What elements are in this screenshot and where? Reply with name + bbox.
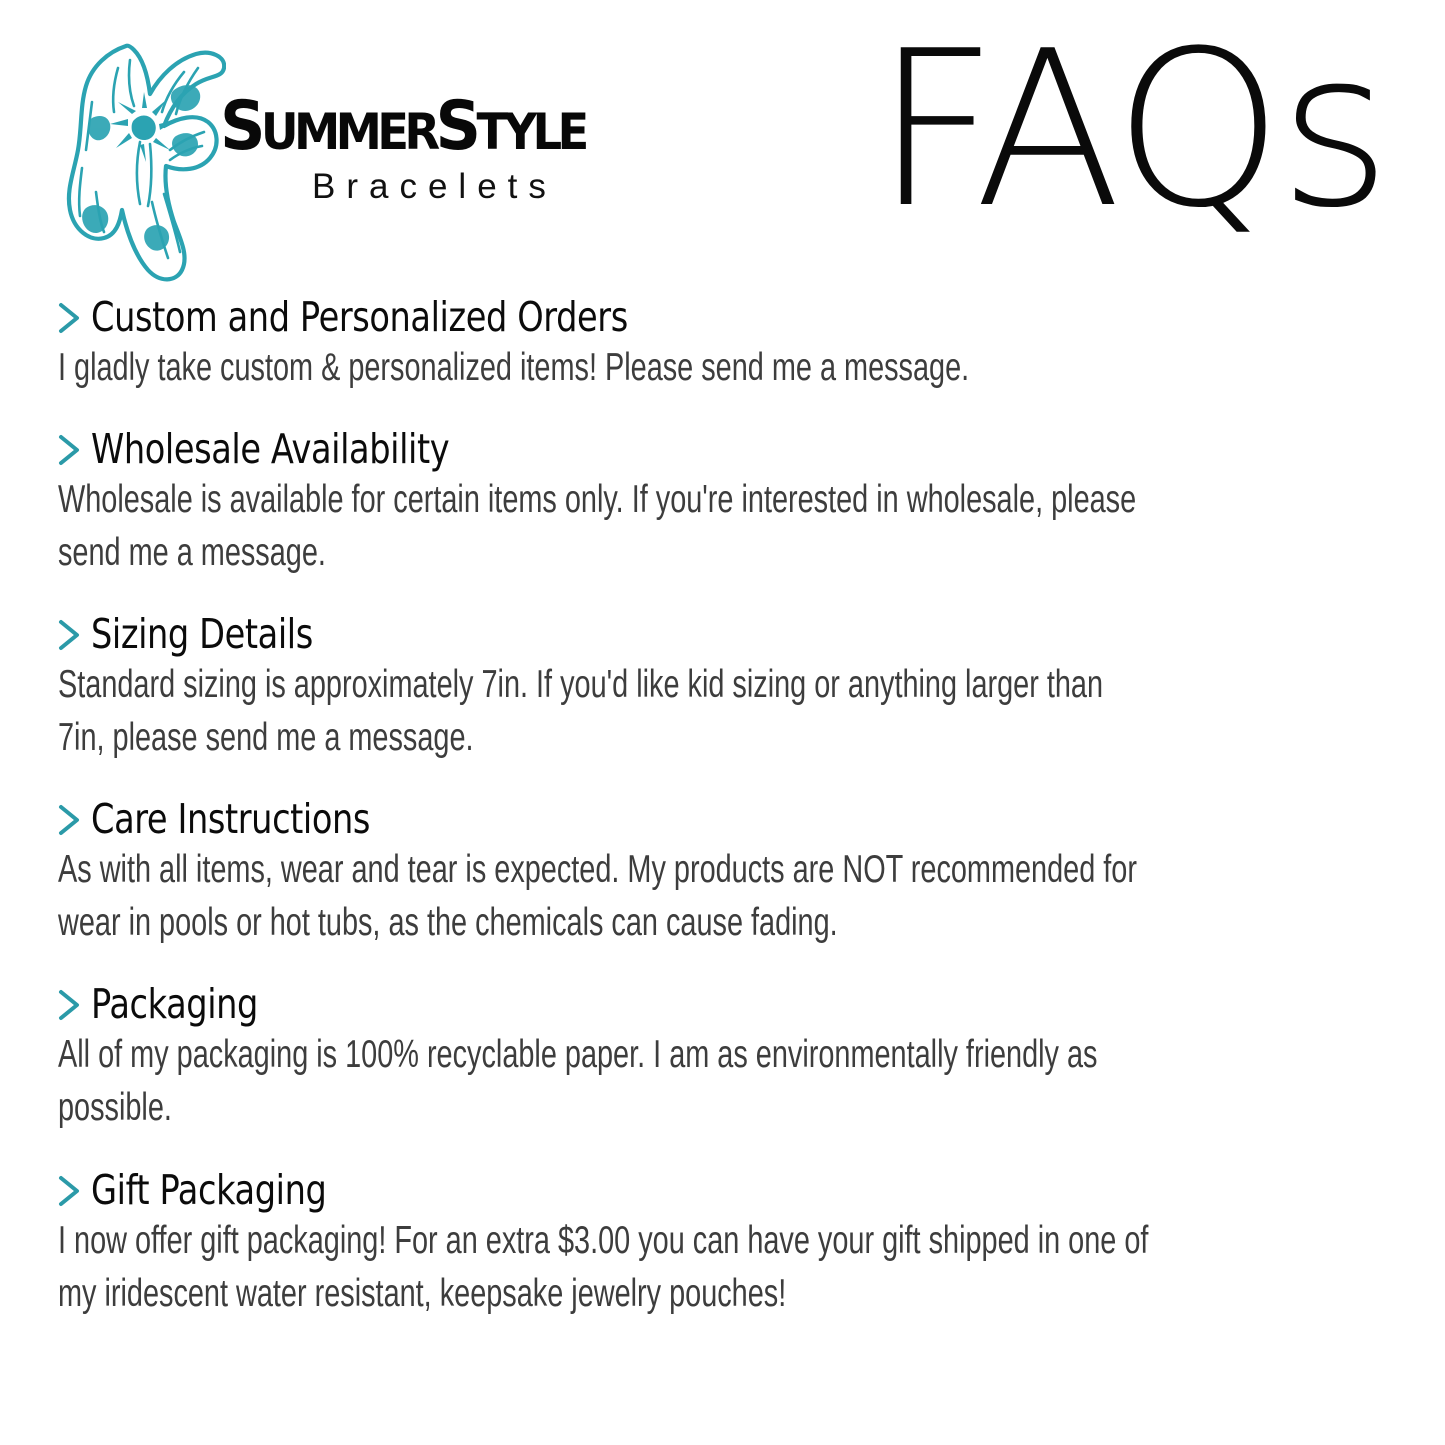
faq-heading-label: Gift Packaging xyxy=(91,1169,326,1212)
brand-letters-ummer: UMMER xyxy=(261,103,436,161)
faq-heading[interactable]: Packaging xyxy=(58,983,1258,1026)
brand-letter-s1: S xyxy=(220,87,261,166)
chevron-right-icon xyxy=(58,803,82,837)
faq-heading[interactable]: Care Instructions xyxy=(58,798,1258,841)
faq-item-care-instructions: Care Instructions As with all items, wea… xyxy=(58,798,1258,949)
page-header: SUMMERSTYLE Bracelets FAQs xyxy=(0,0,1445,292)
chevron-right-icon xyxy=(58,433,82,467)
faq-body-line: my iridescent water resistant, keepsake … xyxy=(58,1267,1257,1320)
faq-body-line: Wholesale is available for certain items… xyxy=(58,473,1257,526)
faq-heading[interactable]: Wholesale Availability xyxy=(58,428,1258,471)
faq-body: I gladly take custom & personalized item… xyxy=(58,341,1257,394)
faq-body-line: I gladly take custom & personalized item… xyxy=(58,341,1257,394)
faq-body: All of my packaging is 100% recyclable p… xyxy=(58,1028,1257,1134)
faq-body-line: possible. xyxy=(58,1081,1257,1134)
faq-item-custom-and-personalized-orders: Custom and Personalized Orders I gladly … xyxy=(58,296,1258,394)
chevron-right-icon xyxy=(58,301,82,335)
brand-name-primary: SUMMERSTYLE xyxy=(220,98,585,155)
faq-page: SUMMERSTYLE Bracelets FAQs Custom and Pe… xyxy=(0,0,1445,1445)
faq-body-line: All of my packaging is 100% recyclable p… xyxy=(58,1028,1257,1081)
chevron-right-icon xyxy=(58,988,82,1022)
faq-body: Standard sizing is approximately 7in. If… xyxy=(58,658,1257,764)
faq-body: As with all items, wear and tear is expe… xyxy=(58,843,1257,949)
faq-heading-label: Wholesale Availability xyxy=(91,428,449,471)
brand-name-secondary: Bracelets xyxy=(312,167,612,207)
faq-item-gift-packaging: Gift Packaging I now offer gift packagin… xyxy=(58,1169,1258,1320)
brand-letters-tyle: TYLE xyxy=(476,103,584,161)
faq-section-list: Custom and Personalized Orders I gladly … xyxy=(58,296,1258,1320)
faq-item-sizing-details: Sizing Details Standard sizing is approx… xyxy=(58,613,1258,764)
page-title: FAQs xyxy=(875,22,1387,237)
faq-body: Wholesale is available for certain items… xyxy=(58,473,1257,579)
faq-body-line: I now offer gift packaging! For an extra… xyxy=(58,1214,1257,1267)
faq-body-line: Standard sizing is approximately 7in. If… xyxy=(58,658,1257,711)
faq-heading-label: Sizing Details xyxy=(91,613,313,656)
faq-heading[interactable]: Gift Packaging xyxy=(58,1169,1258,1212)
chevron-right-icon xyxy=(58,618,82,652)
faq-heading[interactable]: Sizing Details xyxy=(58,613,1258,656)
faq-item-wholesale-availability: Wholesale Availability Wholesale is avai… xyxy=(58,428,1258,579)
faq-body-line: As with all items, wear and tear is expe… xyxy=(58,843,1257,896)
faq-heading-label: Custom and Personalized Orders xyxy=(91,296,628,339)
faq-body-line: 7in, please send me a message. xyxy=(58,711,1257,764)
brand-lockup: SUMMERSTYLE Bracelets xyxy=(56,28,612,285)
faq-heading-label: Care Instructions xyxy=(91,798,370,841)
faq-heading[interactable]: Custom and Personalized Orders xyxy=(58,296,1258,339)
brand-wordmark: SUMMERSTYLE Bracelets xyxy=(220,98,612,207)
faq-body: I now offer gift packaging! For an extra… xyxy=(58,1214,1257,1320)
faq-body-line: send me a message. xyxy=(58,526,1257,579)
faq-heading-label: Packaging xyxy=(91,983,258,1026)
chevron-right-icon xyxy=(58,1174,82,1208)
faq-body-line: wear in pools or hot tubs, as the chemic… xyxy=(58,896,1257,949)
starfish-icon xyxy=(56,30,226,285)
faq-item-packaging: Packaging All of my packaging is 100% re… xyxy=(58,983,1258,1134)
brand-letter-s2: S xyxy=(436,87,477,166)
